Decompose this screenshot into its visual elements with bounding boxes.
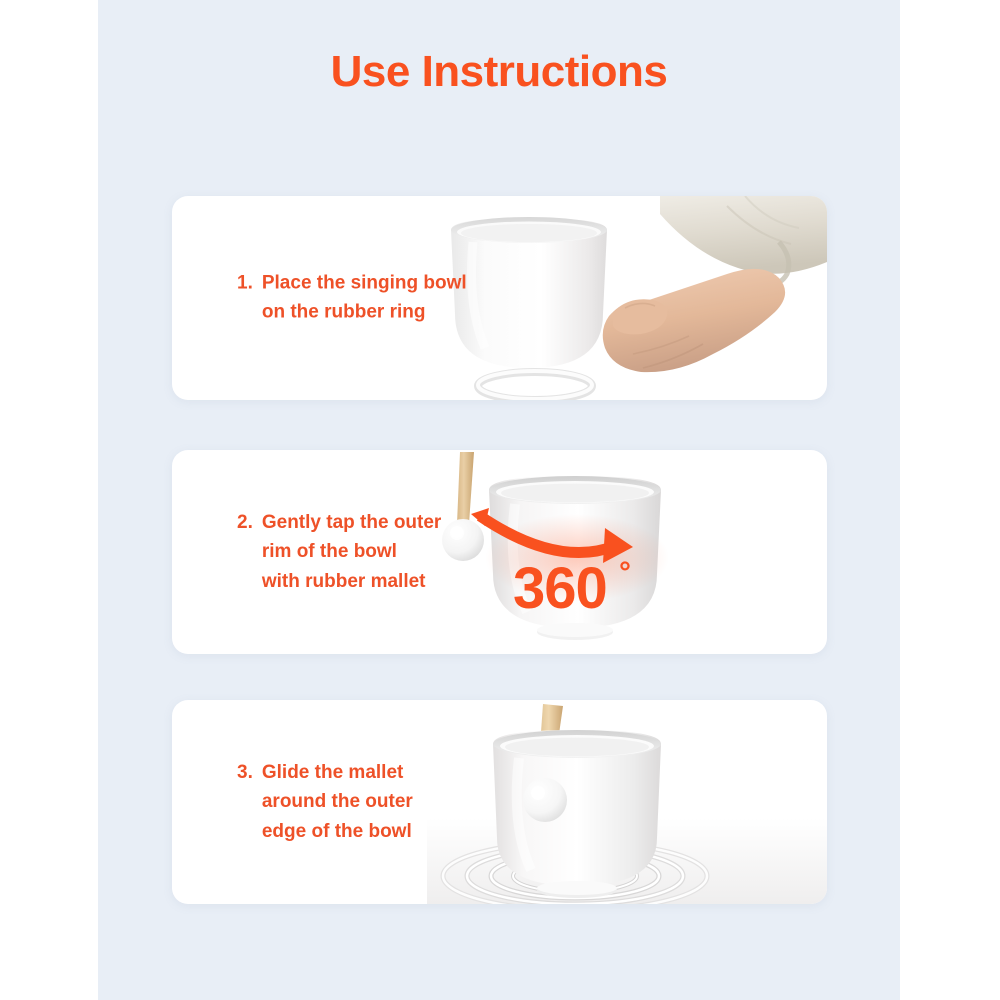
step-3-label: Glide the mallet around the outer edge o… [262, 758, 413, 846]
step-1-number: 1. [237, 269, 253, 298]
step-1-label: Place the singing bowl on the rubber rin… [262, 269, 467, 328]
hand-shape [603, 269, 785, 372]
step-2-text-block: 2. Gently tap the outer rim of the bowl … [237, 508, 441, 596]
step-2-illustration: 360 ° [427, 450, 827, 654]
instruction-card-2: 2. Gently tap the outer rim of the bowl … [172, 450, 827, 654]
step-3-illustration [427, 700, 827, 904]
svg-text:°: ° [619, 556, 631, 589]
rubber-mallet-shape [442, 452, 484, 561]
singing-bowl-shape [451, 217, 607, 368]
step-2-label: Gently tap the outer rim of the bowl wit… [262, 508, 441, 596]
singing-bowl-shape [493, 730, 661, 898]
page-title: Use Instructions [98, 48, 900, 96]
step-1-illustration [427, 196, 827, 400]
step-2-number: 2. [237, 508, 253, 537]
step-1-text-block: 1. Place the singing bowl on the rubber … [237, 269, 467, 328]
instructions-page: Use Instructions 1. Place the singing bo… [0, 0, 1000, 1000]
rubber-ring-shape [478, 371, 592, 400]
instruction-card-3: 3. Glide the mallet around the outer edg… [172, 700, 827, 904]
svg-text:360: 360 [513, 556, 607, 621]
instruction-card-1: 1. Place the singing bowl on the rubber … [172, 196, 827, 400]
mallet-ball-shape [523, 778, 567, 822]
step-3-number: 3. [237, 758, 253, 787]
step-3-text-block: 3. Glide the mallet around the outer edg… [237, 758, 413, 846]
